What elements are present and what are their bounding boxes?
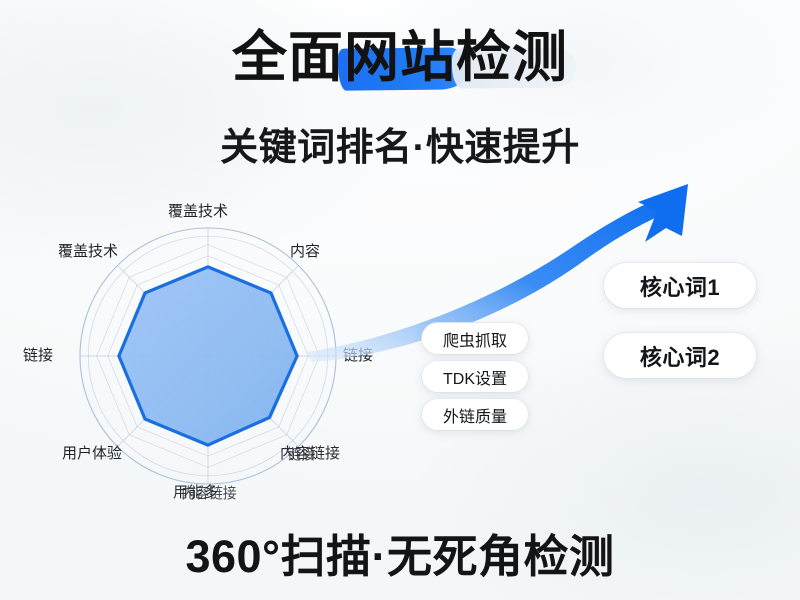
page-subtitle: 关键词排名·快速提升 (0, 116, 800, 171)
radar-label-overlap-lower-right: 内容链接 链接 (280, 442, 340, 463)
radar-label-overlap-bottom: 用能多 内容链接 (173, 481, 218, 502)
page-footline: 360°扫描·无死角检测 (0, 520, 800, 585)
keyword-pill-2[interactable]: 核心词2 (604, 333, 756, 378)
radar-axis-label-bottom: 用能多 内容链接 (173, 481, 218, 502)
feature-pill-backlink[interactable]: 外链质量 (422, 399, 528, 430)
poster-canvas: 全面网站检测 关键词排名·快速提升 覆盖技术 内容 链接 内容链接 链接 (0, 0, 800, 600)
radar-axis-label-right: 链接 (343, 344, 373, 365)
radar-axis-label-lower-left: 用户体验 (62, 442, 122, 463)
feature-pill-crawl-label: 爬虫抓取 (443, 327, 507, 351)
keyword-pill-1-label: 核心词1 (640, 270, 720, 302)
title-segment-3-highlighted: 检测 (456, 28, 568, 86)
keyword-pill-1[interactable]: 核心词1 (604, 263, 756, 308)
radar-axis-label-top: 覆盖技术 (168, 200, 228, 221)
feature-pill-backlink-label: 外链质量 (443, 403, 507, 427)
radar-axis-label-upper-left: 覆盖技术 (58, 240, 118, 261)
radar-axis-label-lower-right: 内容链接 链接 (280, 442, 340, 463)
radar-axis-label-left: 链接 (23, 344, 53, 365)
title-segment-2-text: 网站 (344, 26, 456, 88)
radar-axis-label-upper-right: 内容 (290, 240, 320, 261)
keyword-pill-2-label: 核心词2 (640, 340, 720, 372)
radar-chart: 覆盖技术 内容 链接 内容链接 链接 用能多 内容链接 用户体验 链接 覆盖技术 (18, 196, 418, 506)
arrow-head (638, 184, 688, 242)
headline-container: 全面网站检测 (0, 28, 800, 86)
page-title: 全面网站检测 (232, 28, 568, 86)
title-segment-2-highlighted: 网站 (344, 28, 456, 86)
title-segment-3-text: 检测 (456, 26, 568, 88)
radar-data-polygon (119, 267, 297, 445)
radar-series-polygon (119, 267, 297, 445)
feature-pill-tdk[interactable]: TDK设置 (422, 361, 528, 392)
feature-pill-crawl[interactable]: 爬虫抓取 (422, 323, 528, 354)
feature-pill-tdk-label: TDK设置 (443, 365, 507, 389)
title-segment-1: 全面 (232, 28, 344, 86)
